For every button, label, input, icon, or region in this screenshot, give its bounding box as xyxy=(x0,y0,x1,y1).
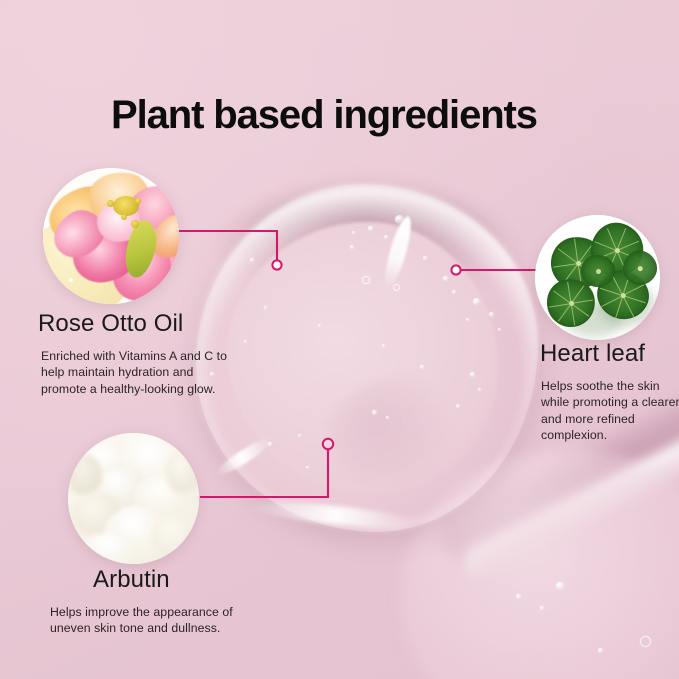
connector-arbutin xyxy=(200,450,328,497)
connector-endpoint-rose-otto-oil xyxy=(272,260,281,269)
connector-rose-otto-oil xyxy=(172,231,277,262)
ingredient-image-arbutin xyxy=(68,433,199,564)
ingredient-description-rose-otto-oil: Enriched with Vitamins A and C to help m… xyxy=(41,348,231,397)
connector-endpoint-heart-leaf xyxy=(451,265,460,274)
connector-endpoint-arbutin xyxy=(323,439,333,449)
ingredient-name-arbutin: Arbutin xyxy=(93,566,170,594)
ingredient-image-rose-otto-oil xyxy=(43,168,179,304)
ingredient-description-arbutin: Helps improve the appearance of uneven s… xyxy=(50,604,265,637)
ingredient-description-heart-leaf: Helps soothe the skin while promoting a … xyxy=(541,378,679,444)
ingredient-image-heart-leaf xyxy=(535,215,660,340)
ingredient-name-rose-otto-oil: Rose Otto Oil xyxy=(38,310,183,338)
infographic-canvas: Plant based ingredients xyxy=(0,0,679,679)
ingredient-name-heart-leaf: Heart leaf xyxy=(540,340,645,368)
